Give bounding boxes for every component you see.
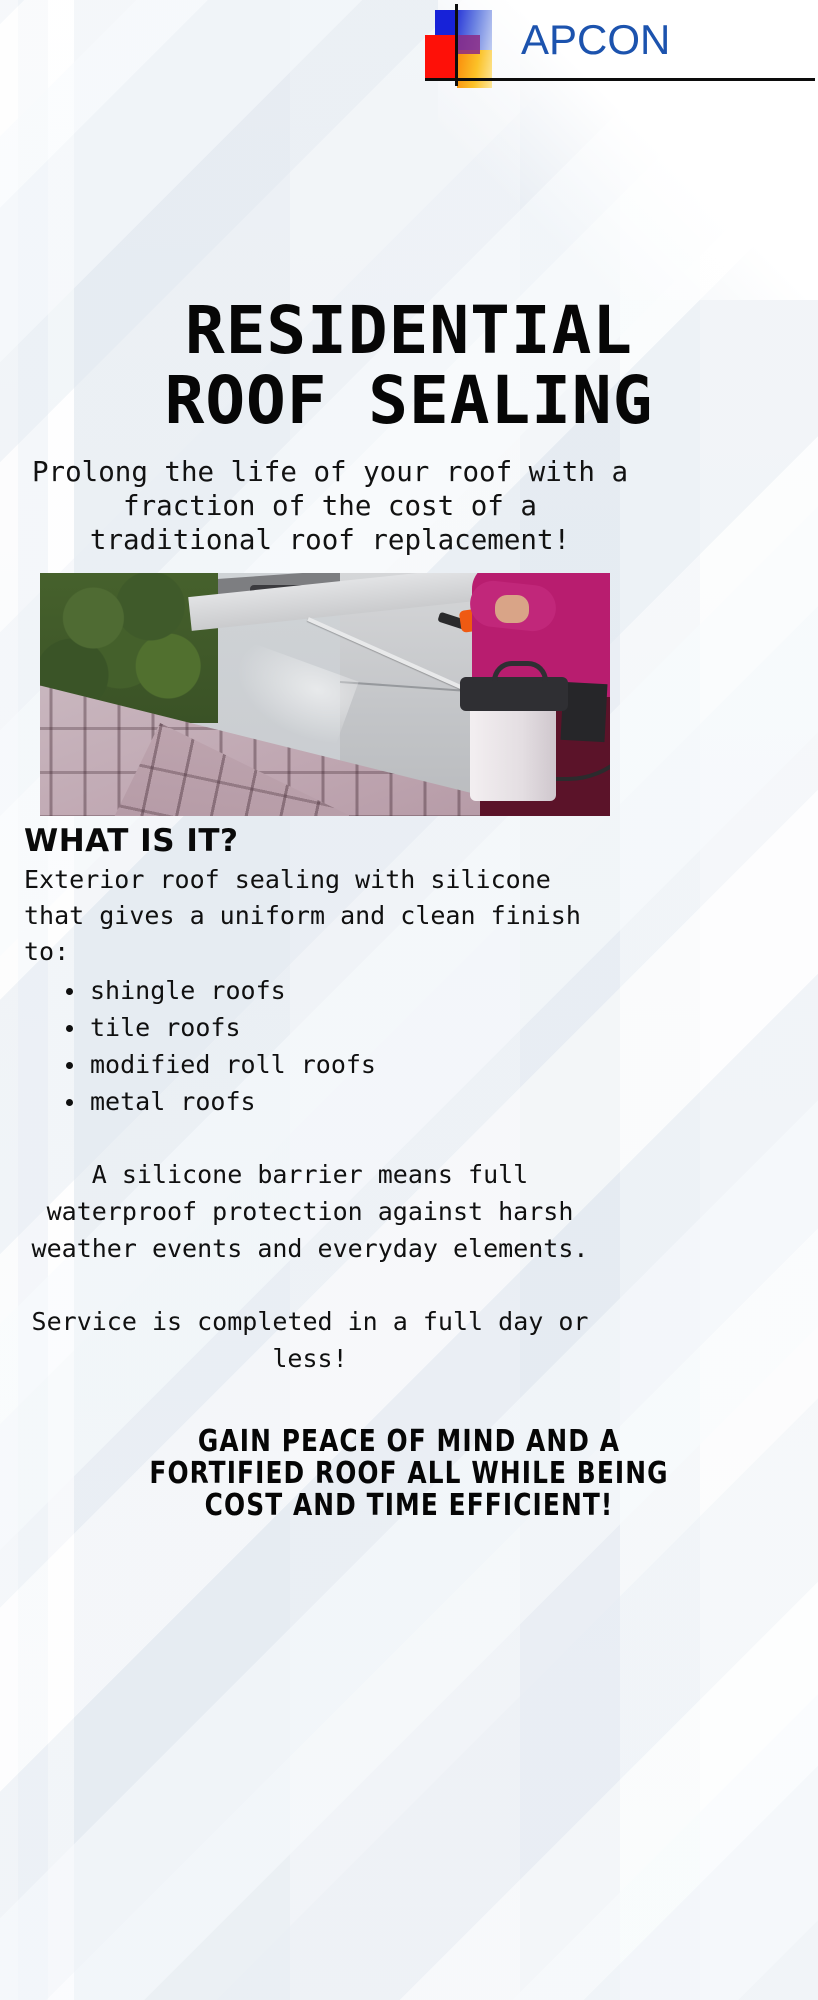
logo-vertical-rule — [455, 4, 458, 86]
tagline: Prolong the life of your roof with a fra… — [30, 455, 630, 557]
logo-overlap-patch — [457, 35, 480, 54]
footer-line-1: GAIN PEACE OF MIND AND A — [33, 1426, 786, 1458]
barrier-paragraph: A silicone barrier means full waterproof… — [24, 1156, 596, 1267]
logo-horizontal-rule — [425, 78, 815, 81]
service-paragraph: Service is completed in a full day or le… — [24, 1303, 596, 1377]
list-item: metal roofs — [64, 1083, 636, 1120]
roof-types-list: shingle roofs tile roofs modified roll r… — [24, 972, 636, 1120]
photo-worker-hand — [495, 595, 529, 623]
footer-callout: GAIN PEACE OF MIND AND A FORTIFIED ROOF … — [33, 1426, 786, 1522]
footer-line-2: FORTIFIED ROOF ALL WHILE BEING — [33, 1458, 786, 1490]
list-item: modified roll roofs — [64, 1046, 636, 1083]
page-title-line-1: RESIDENTIAL — [0, 296, 818, 366]
page-title: RESIDENTIAL ROOF SEALING — [0, 296, 818, 436]
footer-line-3: COST AND TIME EFFICIENT! — [33, 1490, 786, 1522]
section-body: Exterior roof sealing with silicone that… — [24, 862, 596, 970]
roof-spraying-photo — [40, 573, 610, 816]
brand-wordmark: APCON — [521, 16, 670, 64]
page-title-line-2: ROOF SEALING — [0, 366, 818, 436]
brand-logo: APCON — [425, 4, 815, 84]
logo-red-square — [425, 35, 457, 79]
list-item: tile roofs — [64, 1009, 636, 1046]
list-item: shingle roofs — [64, 972, 636, 1009]
section-heading: WHAT IS IT? — [24, 823, 238, 859]
logo-orange-gradient-square — [457, 50, 492, 88]
photo-pump-sprayer-handle — [492, 661, 548, 688]
apcon-squares-logo-icon — [425, 4, 515, 82]
photo-pump-sprayer-tank — [470, 701, 556, 801]
header: APCON — [0, 0, 818, 92]
flyer-page: APCON RESIDENTIAL ROOF SEALING Prolong t… — [0, 0, 818, 2000]
